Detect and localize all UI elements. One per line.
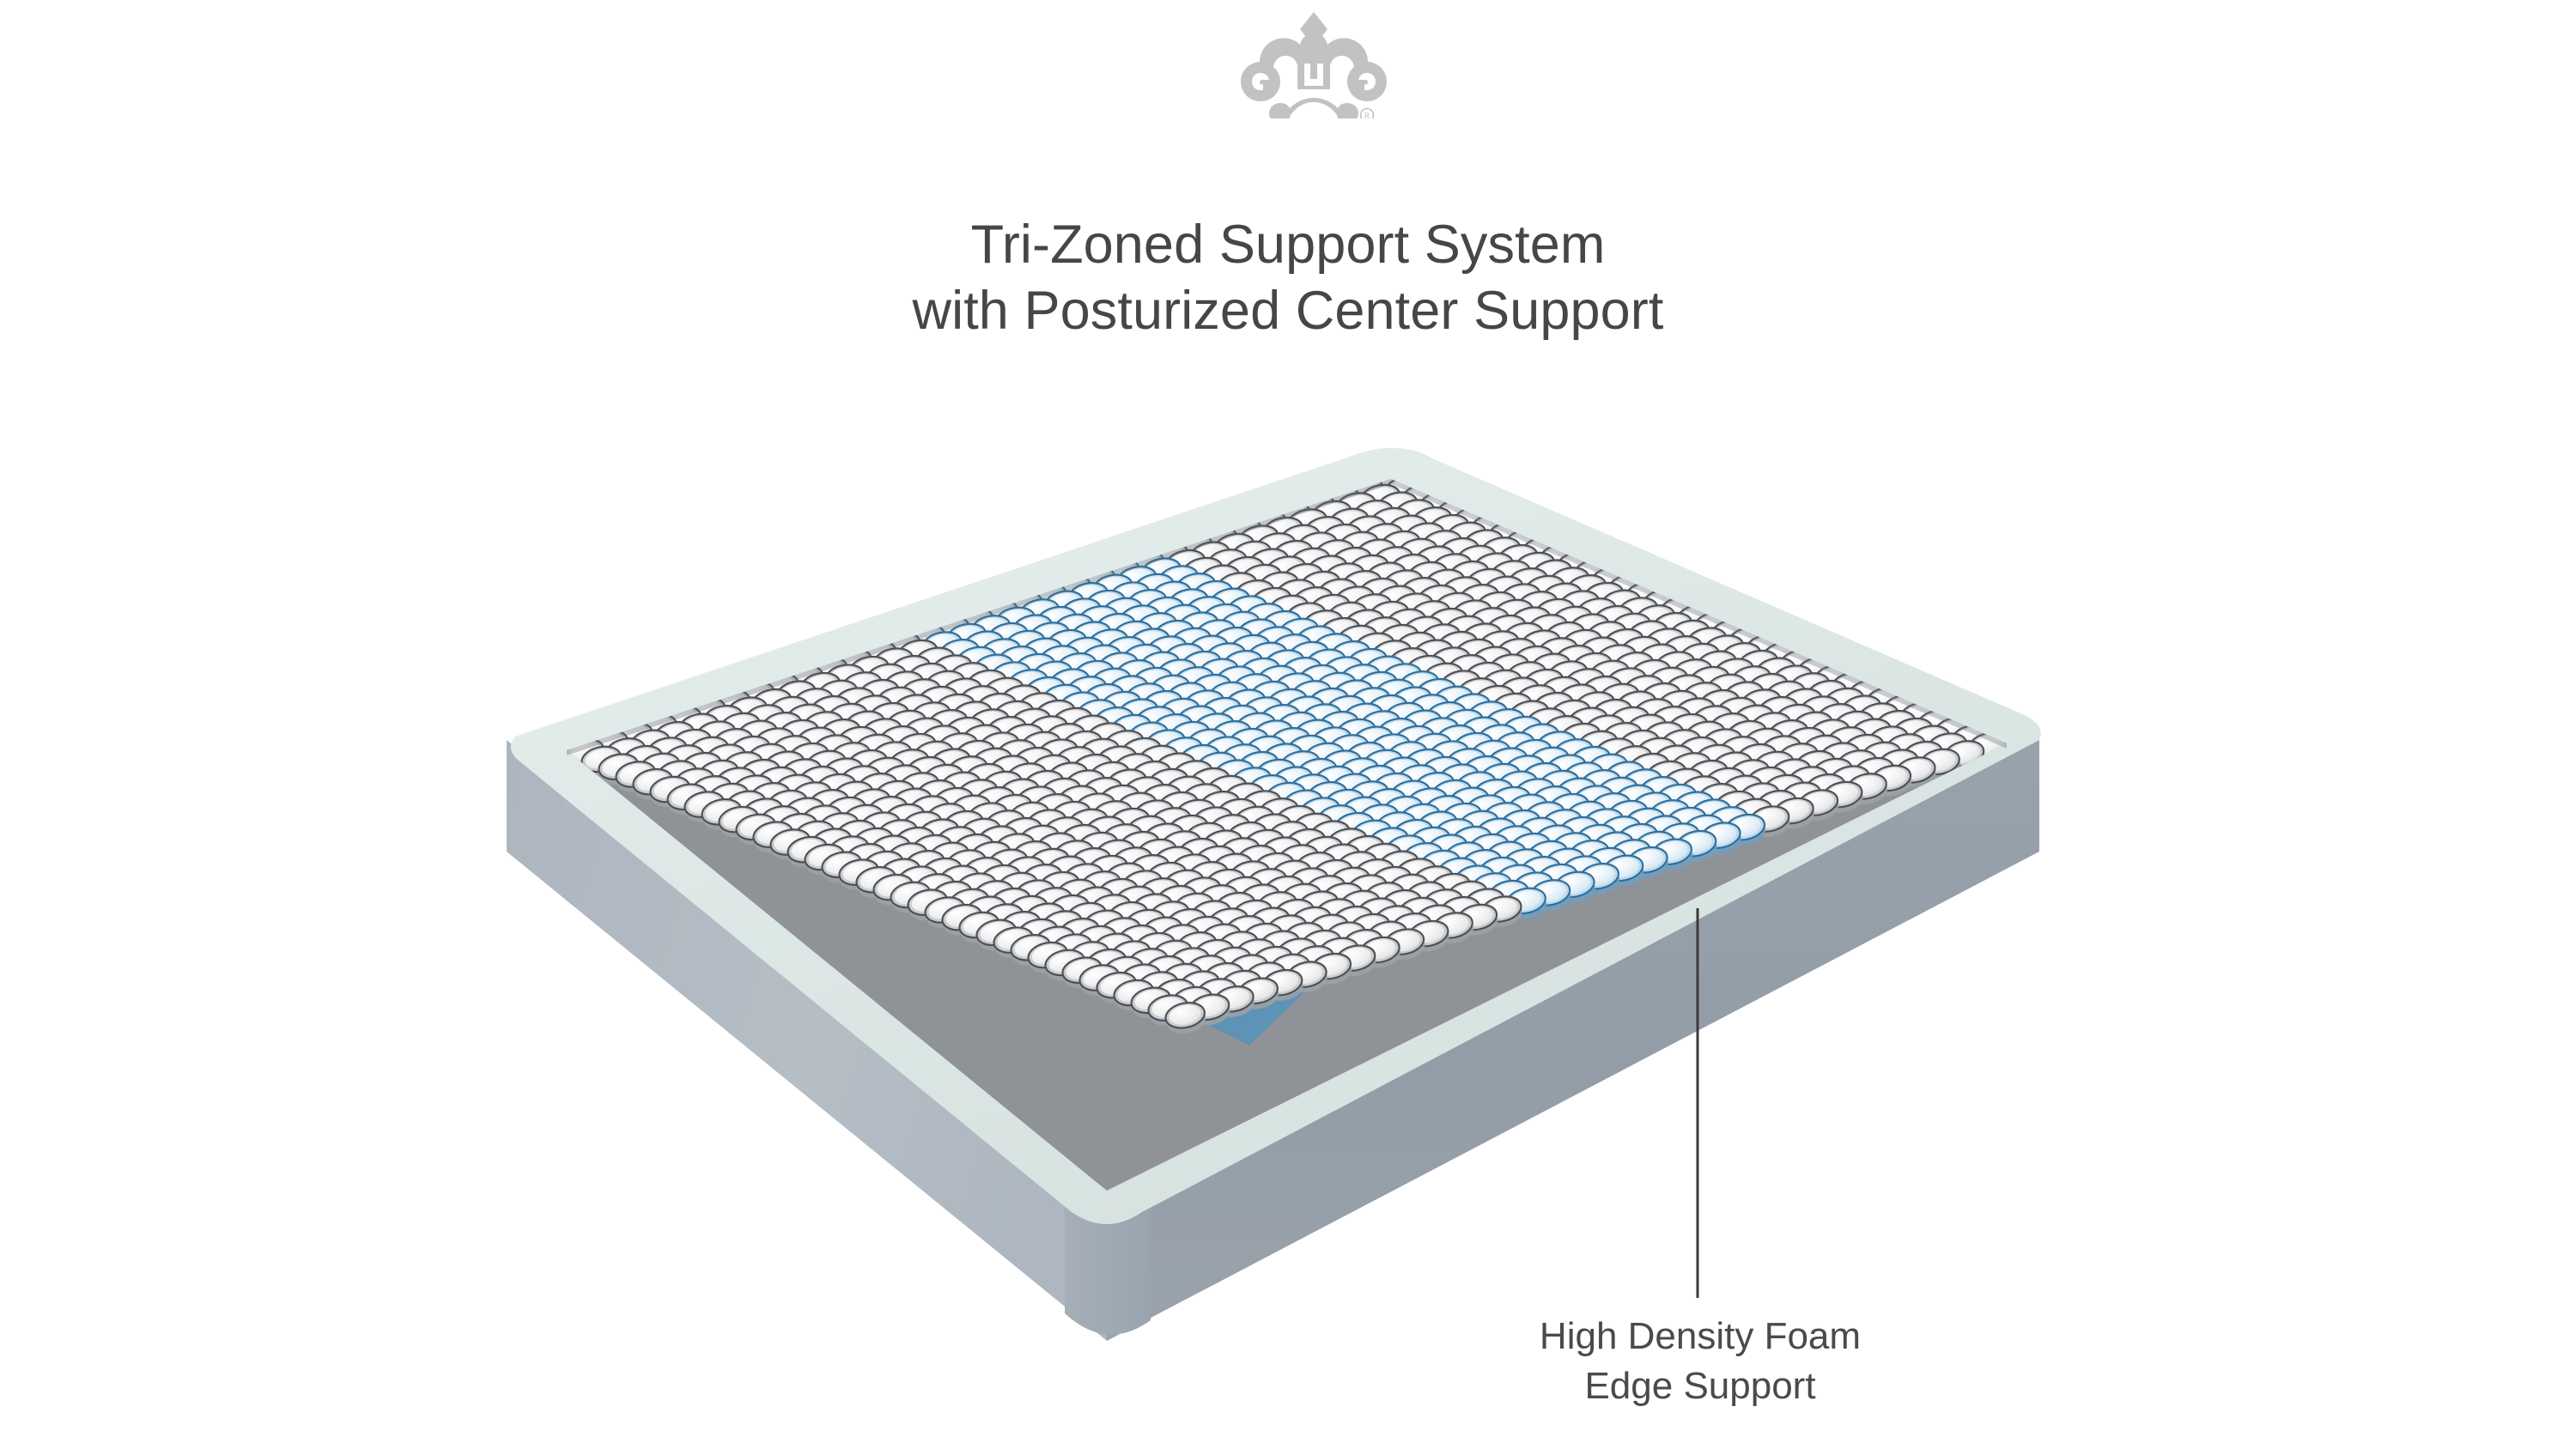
coil-standard-zone [780, 755, 824, 793]
coil-standard-zone [799, 670, 843, 707]
coil-center-zone [1075, 696, 1120, 734]
coil-standard-zone [1700, 725, 1745, 763]
coil-standard-zone [1002, 721, 1047, 759]
coil-standard-zone [1303, 872, 1348, 910]
coil-center-zone [938, 636, 982, 674]
coil-standard-zone [896, 637, 940, 675]
coil-standard-zone [983, 807, 1028, 845]
coil-standard-zone [1949, 722, 1994, 760]
coil-standard-zone [1358, 934, 1403, 972]
coil-standard-zone [1470, 644, 1515, 682]
coil-standard-zone [1170, 851, 1214, 888]
coil-center-zone [1282, 694, 1327, 731]
coil-center-zone [976, 597, 1021, 634]
coil-standard-zone [777, 717, 822, 755]
coil-standard-zone [817, 809, 861, 847]
coil-standard-zone [1825, 724, 1869, 761]
coil-center-zone [1357, 801, 1401, 839]
coil-standard-zone [1463, 659, 1508, 697]
coil-standard-zone [775, 678, 819, 716]
coil-center-zone [1608, 836, 1653, 874]
coil-standard-zone [1376, 848, 1421, 886]
coil-standard-zone [1179, 874, 1224, 912]
coil-center-zone [1006, 666, 1051, 704]
coil-standard-zone [1019, 729, 1064, 767]
coil-center-zone [1059, 595, 1103, 633]
coil-standard-zone [1145, 859, 1189, 897]
coil-center-zone [1152, 617, 1197, 655]
coil-standard-zone [758, 803, 803, 840]
coil-center-zone [996, 643, 1041, 681]
coil-center-zone [1350, 817, 1394, 855]
coil-standard-zone [1444, 519, 1489, 557]
page-title-line-1: Tri-Zoned Support System [0, 212, 2576, 278]
coil-center-zone [1550, 829, 1595, 867]
coil-center-zone [1425, 832, 1470, 870]
coil-standard-zone [818, 716, 863, 754]
coil-standard-zone [1788, 670, 1832, 707]
coil-center-zone [1481, 799, 1526, 837]
coil-standard-zone [1781, 686, 1826, 724]
coil-standard-zone [1082, 907, 1127, 945]
coil-center-zone [1461, 753, 1506, 791]
coil-center-zone [1530, 783, 1575, 821]
coil-standard-zone [1679, 773, 1723, 810]
coil-standard-zone [1196, 882, 1241, 919]
coil-center-zone [1234, 710, 1279, 748]
coil-center-zone [969, 612, 1013, 650]
coil-standard-zone [951, 699, 995, 737]
coil-center-zone [1252, 623, 1297, 661]
coil-standard-zone [1377, 621, 1422, 659]
coil-standard-zone [1631, 695, 1676, 733]
coil-standard-zone [913, 870, 957, 908]
coil-standard-zone [773, 772, 817, 809]
coil-standard-zone [1307, 912, 1352, 949]
coil-center-zone [1132, 571, 1176, 609]
coil-standard-zone [1431, 909, 1476, 947]
coil-center-zone [1479, 761, 1523, 798]
coil-standard-zone [1468, 511, 1513, 549]
coil-standard-zone [790, 779, 835, 816]
coil-center-zone [1402, 746, 1447, 784]
coil-standard-zone [1335, 622, 1380, 660]
coil-standard-zone [1436, 628, 1480, 666]
coil-center-zone [1398, 801, 1443, 839]
coil-center-zone [1003, 627, 1048, 665]
coil-standard-zone [1773, 701, 1818, 739]
coil-standard-zone [1420, 527, 1465, 565]
coil-center-zone [1285, 732, 1330, 770]
coil-standard-zone [1269, 858, 1314, 895]
coil-center-zone [1238, 655, 1283, 693]
coil-standard-zone [854, 864, 899, 901]
coil-standard-zone [1726, 624, 1771, 662]
coil-standard-zone [1541, 712, 1586, 750]
coil-standard-zone [1496, 542, 1540, 579]
coil-center-zone [951, 605, 996, 643]
coil-standard-zone [1636, 641, 1680, 679]
coil-center-zone [1091, 572, 1135, 609]
coil-standard-zone [807, 786, 852, 824]
coil-center-zone [1206, 679, 1251, 717]
coil-standard-zone [1558, 587, 1602, 625]
coil-standard-zone [1749, 709, 1794, 747]
coil-standard-zone [1549, 697, 1594, 735]
coil-standard-zone [1807, 716, 1852, 754]
coil-center-zone [1475, 721, 1520, 759]
coil-standard-zone [734, 811, 779, 849]
coil-center-zone [1230, 764, 1274, 802]
coil-standard-zone [1455, 901, 1500, 939]
coil-standard-zone [1033, 697, 1078, 735]
coil-standard-zone [889, 879, 933, 917]
coil-center-zone [1241, 694, 1285, 731]
coil-standard-zone [1382, 567, 1426, 604]
coil-standard-zone [1067, 938, 1112, 976]
coil-center-zone [1437, 761, 1481, 799]
coil-standard-zone [1599, 587, 1643, 625]
coil-standard-zone [859, 809, 903, 846]
coil-center-zone [1049, 572, 1094, 609]
coil-standard-zone [1382, 925, 1427, 963]
coil-center-zone [1534, 728, 1579, 766]
coil-standard-zone [1640, 586, 1685, 624]
coil-center-zone [1417, 714, 1461, 752]
coil-standard-zone [769, 732, 814, 770]
coil-standard-zone [704, 741, 749, 779]
coil-standard-zone [1066, 806, 1111, 844]
coil-standard-zone [981, 900, 1026, 938]
coil-standard-zone [1238, 882, 1283, 919]
coil-standard-zone [1820, 779, 1865, 816]
coil-standard-zone [1553, 642, 1598, 680]
coil-standard-zone [1102, 727, 1146, 765]
coil-standard-zone [1485, 612, 1529, 650]
coil-center-zone [1139, 555, 1184, 593]
coil-standard-zone [878, 723, 922, 761]
coil-center-zone [1114, 657, 1158, 694]
coil-standard-zone [1507, 698, 1552, 736]
coil-standard-zone [1023, 900, 1067, 938]
coil-unit-bed [515, 446, 2061, 1219]
coil-standard-zone [1387, 871, 1431, 909]
coil-center-zone [1176, 609, 1221, 647]
coil-standard-zone [1215, 569, 1260, 607]
coil-center-zone [1254, 756, 1298, 794]
coil-standard-zone [1168, 944, 1212, 982]
coil-standard-zone [1796, 786, 1841, 824]
coil-standard-zone [655, 758, 700, 796]
coil-standard-zone [1212, 983, 1256, 1021]
coil-standard-zone [1174, 797, 1218, 834]
coil-standard-zone [1480, 667, 1525, 705]
coil-standard-zone [992, 698, 1036, 736]
coil-center-zone [1501, 846, 1546, 883]
coil-standard-zone [1018, 822, 1062, 860]
coil-standard-zone [1147, 898, 1192, 936]
coil-standard-zone [941, 808, 986, 846]
coil-standard-zone [988, 885, 1033, 923]
coil-center-zone [1148, 672, 1193, 710]
coil-standard-zone [919, 722, 963, 760]
coil-standard-zone [1191, 803, 1236, 841]
coil-standard-zone [1798, 693, 1843, 731]
coil-standard-zone [724, 788, 769, 826]
coil-standard-zone [1054, 876, 1099, 914]
coil-standard-zone [1519, 627, 1564, 665]
coil-standard-zone [1577, 634, 1622, 672]
coil-standard-zone [866, 793, 910, 831]
coil-standard-zone [1352, 630, 1397, 668]
coil-standard-zone [939, 769, 983, 807]
coil-standard-zone [1652, 743, 1697, 780]
coil-standard-zone [1208, 811, 1253, 849]
coil-standard-zone [1364, 560, 1409, 597]
coil-standard-zone [1024, 806, 1069, 844]
coil-center-zone [1543, 846, 1588, 883]
coil-center-zone [1468, 737, 1513, 775]
coil-center-zone [1235, 616, 1279, 654]
coil-standard-zone [1593, 735, 1637, 773]
coil-standard-zone [1298, 568, 1343, 606]
coil-standard-zone [781, 662, 826, 700]
coil-standard-zone [1309, 591, 1353, 629]
coil-center-zone [1295, 755, 1340, 793]
coil-standard-zone [1313, 537, 1358, 574]
coil-standard-zone [1230, 897, 1275, 935]
coil-standard-zone [683, 694, 728, 732]
coil-standard-zone [843, 708, 888, 746]
coil-standard-zone [940, 901, 985, 939]
coil-center-zone [1122, 548, 1167, 585]
coil-standard-zone [986, 846, 1030, 884]
coil-center-zone [1219, 741, 1264, 779]
coil-standard-zone [1461, 526, 1506, 564]
coil-standard-zone [1115, 790, 1159, 828]
coil-standard-zone [874, 684, 919, 722]
coil-standard-zone [696, 757, 741, 795]
coil-standard-zone [1118, 828, 1163, 866]
coil-standard-zone [1406, 918, 1451, 955]
coil-center-zone [1170, 625, 1214, 663]
coil-center-zone [1329, 771, 1374, 809]
coil-standard-zone [1035, 830, 1079, 868]
coil-standard-zone [1365, 919, 1410, 956]
coil-standard-zone [1777, 740, 1821, 778]
coil-standard-zone [811, 731, 856, 769]
coil-standard-zone [1116, 922, 1161, 960]
coil-standard-zone [1069, 845, 1114, 882]
coil-standard-zone [1249, 585, 1294, 622]
coil-standard-zone [917, 816, 962, 854]
coil-standard-zone [1155, 882, 1200, 920]
coil-center-zone [1348, 684, 1393, 722]
coil-standard-zone [614, 758, 659, 796]
coil-standard-zone [1687, 664, 1732, 701]
coil-center-zone [1440, 800, 1485, 838]
coil-center-zone [1623, 805, 1668, 843]
coil-standard-zone [1199, 921, 1243, 959]
coil-standard-zone [1185, 952, 1230, 990]
coil-standard-zone [840, 669, 884, 706]
coil-standard-zone [1502, 620, 1546, 658]
coil-standard-zone [1043, 720, 1088, 758]
coil-standard-zone [1676, 734, 1721, 772]
coil-standard-zone [1177, 968, 1222, 1006]
coil-standard-zone [1106, 899, 1151, 937]
coil-center-zone [1464, 791, 1509, 829]
coil-standard-zone [1138, 875, 1182, 912]
coil-standard-zone [1747, 670, 1791, 708]
coil-center-zone [1494, 862, 1539, 900]
coil-standard-zone [1282, 919, 1327, 957]
coil-standard-zone [1099, 914, 1144, 952]
registered-mark-icon: R [1361, 109, 1374, 119]
coil-center-zone [1314, 670, 1358, 707]
coil-standard-zone [1852, 755, 1897, 792]
coil-standard-zone [1722, 679, 1766, 717]
coil-center-zone [1449, 691, 1493, 729]
coil-standard-zone [748, 779, 793, 817]
coil-standard-zone [987, 753, 1032, 791]
coil-center-zone [1226, 725, 1271, 763]
coil-standard-zone [1123, 906, 1168, 944]
coil-center-zone [1364, 785, 1408, 823]
coil-standard-zone [738, 756, 783, 794]
coil-center-zone [1474, 815, 1519, 853]
coil-standard-zone [1653, 648, 1698, 686]
coil-standard-zone [1324, 919, 1369, 956]
coil-standard-zone [1303, 513, 1347, 551]
illustration-canvas: R Tri-Zoned Support System with Posturiz… [0, 0, 2576, 1449]
coil-standard-zone [1010, 838, 1054, 876]
coil-center-zone [1374, 809, 1419, 846]
coil-standard-zone [662, 742, 707, 779]
coil-standard-zone [562, 736, 607, 773]
coil-standard-zone [1277, 841, 1321, 879]
coil-center-zone [1275, 709, 1320, 747]
coil-center-zone [1520, 760, 1564, 797]
coil-standard-zone [1149, 804, 1194, 842]
coil-standard-zone [659, 703, 704, 741]
coil-center-zone [1589, 790, 1633, 828]
coil-center-zone [1681, 812, 1726, 850]
coil-center-zone [1099, 688, 1144, 726]
coil-standard-zone [1440, 573, 1485, 611]
coil-standard-zone [1680, 679, 1725, 717]
coil-standard-zone [687, 734, 732, 772]
coil-standard-zone [1539, 674, 1583, 712]
coil-center-zone [1161, 734, 1206, 772]
coil-center-zone [1388, 778, 1433, 815]
crown-logo-icon: R [1236, 7, 1391, 118]
coil-standard-zone [1009, 931, 1054, 969]
coil-standard-zone [1009, 706, 1054, 743]
coil-standard-zone [1188, 991, 1232, 1029]
coil-standard-zone [1331, 903, 1376, 941]
coil-standard-zone [872, 778, 917, 815]
coil-standard-zone [1427, 512, 1472, 549]
coil-center-zone [1052, 611, 1097, 649]
coil-standard-zone [981, 675, 1026, 712]
coil-center-zone [962, 628, 1006, 666]
coil-center-zone [1072, 658, 1116, 695]
coil-standard-zone [1686, 757, 1731, 795]
coil-center-zone [1415, 809, 1460, 846]
coil-standard-zone [1297, 888, 1341, 926]
coil-standard-zone [1236, 975, 1281, 1013]
coil-standard-zone [670, 726, 714, 764]
coil-standard-zone [1198, 788, 1242, 826]
coil-standard-zone [1421, 886, 1466, 924]
coil-center-zone [1303, 740, 1347, 778]
coil-standard-zone [1425, 605, 1470, 643]
coil-standard-zone [897, 769, 942, 807]
coil-center-zone [1516, 815, 1560, 852]
coil-standard-zone [1320, 521, 1364, 559]
coil-standard-zone [1268, 499, 1313, 537]
coil-center-zone [1000, 588, 1045, 626]
coil-center-zone [1655, 781, 1699, 819]
coil-standard-zone [1925, 730, 1970, 767]
coil-standard-zone [1745, 764, 1789, 802]
coil-standard-zone [902, 715, 946, 753]
coil-standard-zone [1016, 689, 1060, 727]
coil-standard-zone [1093, 837, 1138, 875]
coil-standard-zone [1479, 534, 1523, 572]
coil-center-zone [1492, 822, 1536, 860]
coil-standard-zone [1564, 572, 1609, 609]
coil-center-zone [1664, 804, 1709, 842]
coil-center-zone [1191, 578, 1236, 615]
coil-standard-zone [1281, 561, 1326, 598]
coil-standard-zone [1221, 874, 1266, 912]
coil-standard-zone [1260, 834, 1304, 872]
coil-center-zone [1470, 870, 1515, 907]
coil-center-zone [1533, 822, 1577, 860]
coil-standard-zone [1523, 573, 1568, 610]
coil-standard-zone [728, 733, 773, 771]
coil-standard-zone [1257, 569, 1302, 607]
coil-standard-zone [1642, 718, 1686, 756]
coil-center-zone [1674, 828, 1719, 865]
coil-standard-zone [1708, 710, 1753, 748]
coil-standard-zone [1121, 867, 1165, 905]
coil-center-zone [1414, 676, 1459, 713]
coil-standard-zone [1146, 539, 1191, 577]
coil-standard-zone [1003, 853, 1048, 891]
coil-center-zone [1431, 683, 1476, 721]
coil-standard-zone [1033, 924, 1078, 961]
coil-center-zone [1133, 703, 1178, 741]
coil-standard-zone [1321, 880, 1365, 918]
coil-center-zone [1346, 778, 1391, 815]
coil-standard-zone [1556, 682, 1601, 719]
coil-standard-zone [848, 785, 893, 823]
coil-standard-zone [992, 924, 1036, 961]
coil-center-zone [1138, 649, 1182, 687]
coil-center-zone [1316, 708, 1361, 746]
coil-standard-zone [1132, 797, 1176, 834]
coil-standard-zone [1271, 537, 1315, 575]
coil-standard-zone [1188, 765, 1232, 803]
coil-center-zone [1443, 839, 1487, 876]
coil-standard-zone [653, 718, 697, 756]
coil-center-zone [1451, 730, 1496, 767]
coil-standard-zone [1140, 914, 1185, 952]
coil-center-zone [1503, 752, 1547, 790]
